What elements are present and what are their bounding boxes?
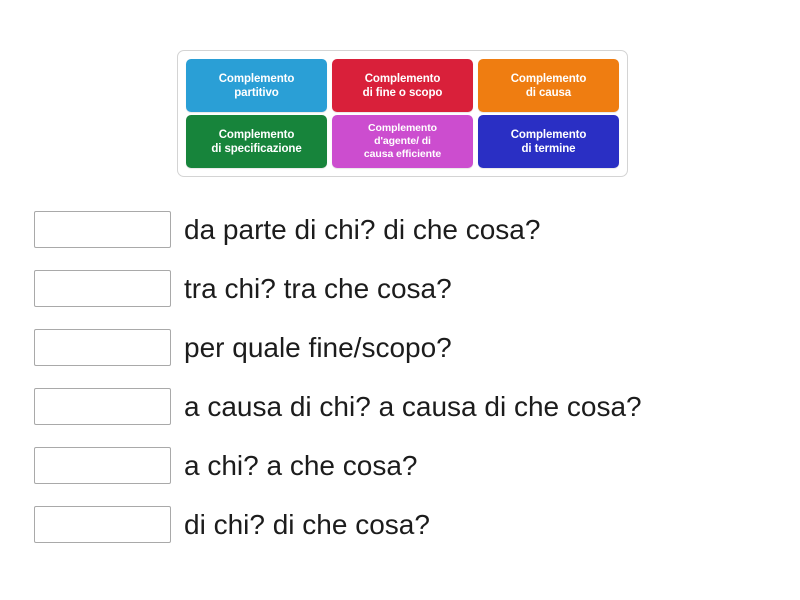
tile-complemento-di-termine[interactable]: Complemento di termine: [478, 115, 619, 168]
answer-row: a causa di chi? a causa di che cosa?: [34, 377, 794, 436]
question-text: a chi? a che cosa?: [184, 450, 418, 482]
tile-complemento-di-specificazione[interactable]: Complemento di specificazione: [186, 115, 327, 168]
tile-complemento-di-fine-o-scopo[interactable]: Complemento di fine o scopo: [332, 59, 473, 112]
question-text: tra chi? tra che cosa?: [184, 273, 452, 305]
drop-box[interactable]: [34, 388, 171, 425]
tile-complemento-di-causa[interactable]: Complemento di causa: [478, 59, 619, 112]
answer-row: tra chi? tra che cosa?: [34, 259, 794, 318]
question-text: di chi? di che cosa?: [184, 509, 430, 541]
question-text: a causa di chi? a causa di che cosa?: [184, 391, 642, 423]
drop-box[interactable]: [34, 447, 171, 484]
activity-canvas: Complemento partitivo Complemento di fin…: [0, 0, 800, 600]
drop-box[interactable]: [34, 270, 171, 307]
answer-rows: da parte di chi? di che cosa? tra chi? t…: [34, 200, 794, 554]
tile-complemento-partitivo[interactable]: Complemento partitivo: [186, 59, 327, 112]
question-text: da parte di chi? di che cosa?: [184, 214, 540, 246]
tile-bank-panel: Complemento partitivo Complemento di fin…: [177, 50, 628, 177]
answer-row: di chi? di che cosa?: [34, 495, 794, 554]
tile-complemento-dagente-di-causa-efficiente[interactable]: Complemento d'agente/ di causa efficient…: [332, 115, 473, 168]
drop-box[interactable]: [34, 329, 171, 366]
tile-bank-row-1: Complemento partitivo Complemento di fin…: [186, 59, 619, 112]
answer-row: per quale fine/scopo?: [34, 318, 794, 377]
question-text: per quale fine/scopo?: [184, 332, 452, 364]
answer-row: da parte di chi? di che cosa?: [34, 200, 794, 259]
tile-bank-row-2: Complemento di specificazione Complement…: [186, 115, 619, 168]
drop-box[interactable]: [34, 506, 171, 543]
answer-row: a chi? a che cosa?: [34, 436, 794, 495]
drop-box[interactable]: [34, 211, 171, 248]
